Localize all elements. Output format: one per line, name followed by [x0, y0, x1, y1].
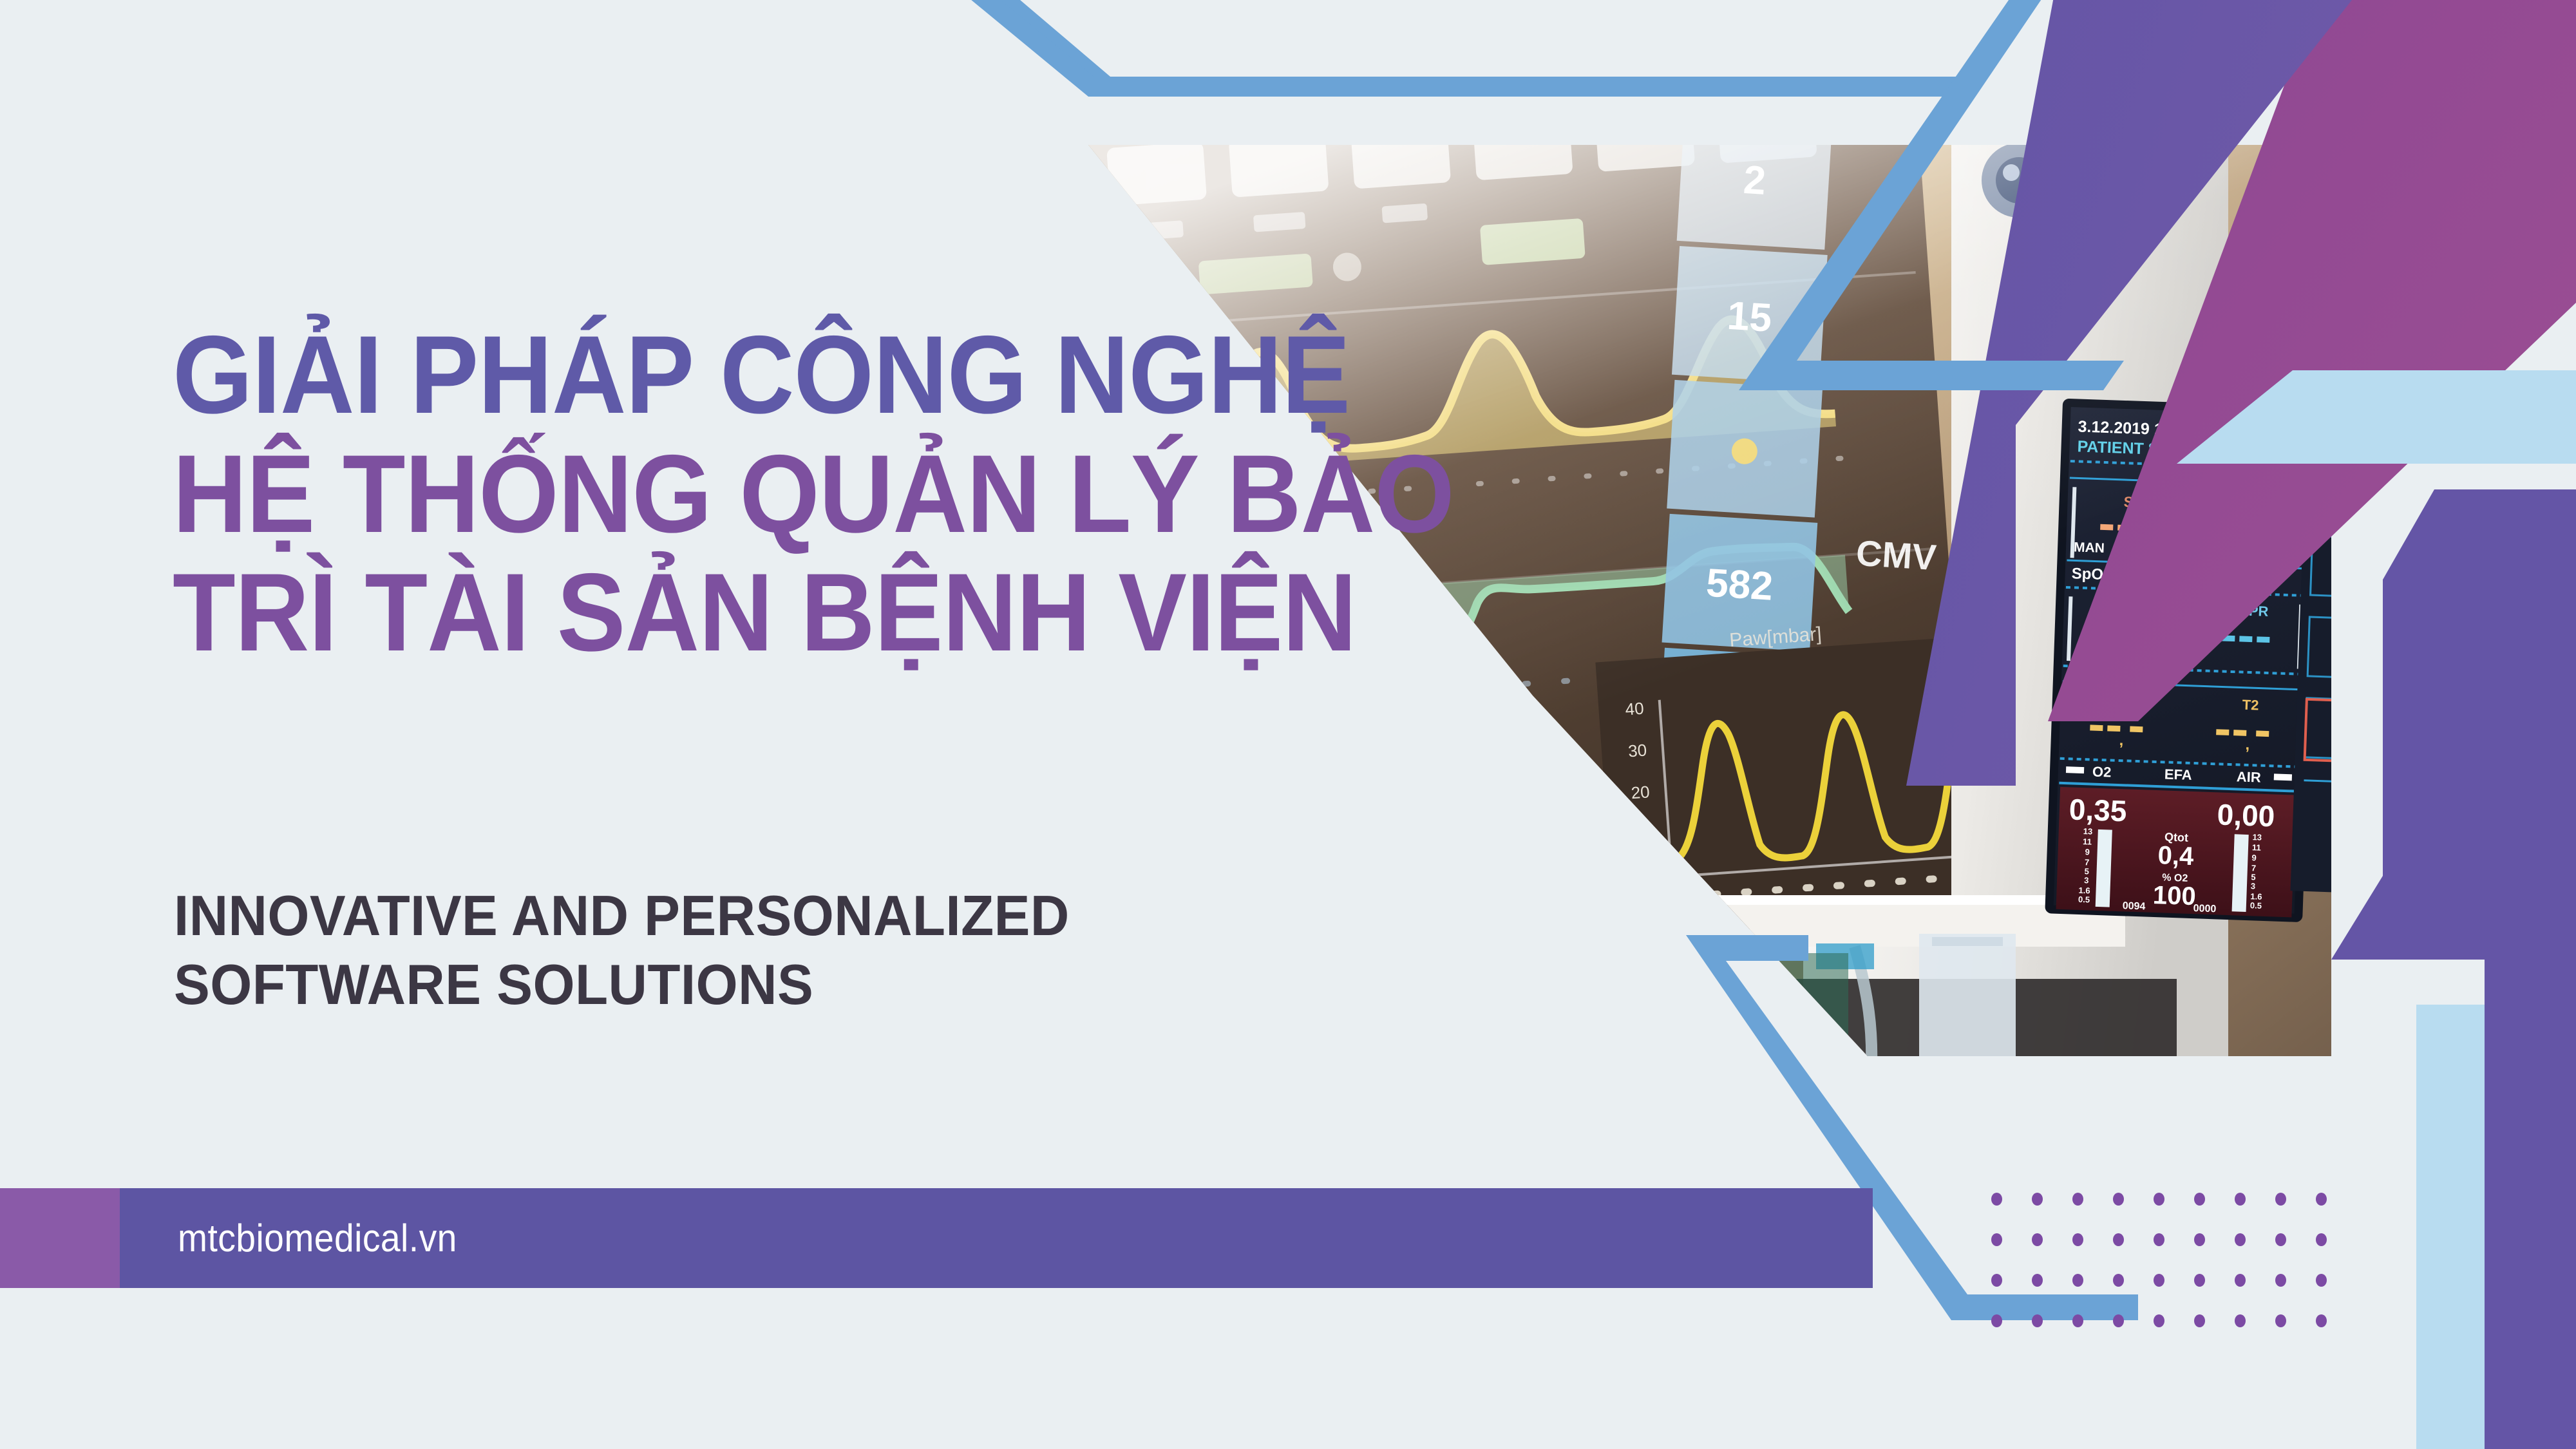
grid-dot — [2154, 1193, 2164, 1206]
svg-text:0: 0 — [1645, 862, 1656, 882]
grid-dot — [2113, 1314, 2124, 1327]
headline-block: GIẢI PHÁP CÔNG NGHỆ HỆ THỐNG QUẢN LÝ BẢO… — [173, 321, 1306, 677]
grid-dot — [2275, 1193, 2286, 1206]
svg-text:EFA: EFA — [2164, 766, 2193, 782]
grid-dot — [2032, 1193, 2043, 1206]
headline-line-3: TRÌ TÀI SẢN BỆNH VIỆN — [173, 558, 1227, 667]
grid-dot — [1991, 1274, 2002, 1287]
grid-dot — [2275, 1233, 2286, 1246]
grid-dot — [2194, 1274, 2205, 1287]
grid-dot — [2072, 1274, 2083, 1287]
svg-text:3: 3 — [2084, 875, 2089, 885]
footer-accent-block — [0, 1188, 120, 1288]
svg-text:7: 7 — [2085, 857, 2090, 867]
svg-text:20: 20 — [1631, 782, 1651, 802]
subheadline-line-2: SOFTWARE SOLUTIONS — [174, 950, 1336, 1019]
grid-dot — [2154, 1233, 2164, 1246]
svg-text:13: 13 — [2252, 832, 2262, 842]
dot-grid-decoration — [1991, 1193, 2356, 1355]
svg-text:3: 3 — [2251, 881, 2256, 891]
svg-text:13: 13 — [2083, 826, 2093, 836]
grid-dot — [1991, 1314, 2002, 1327]
grid-dot — [2235, 1233, 2246, 1246]
grid-dot — [2275, 1274, 2286, 1287]
footer-bar: mtcbiomedical.vn — [120, 1188, 1873, 1288]
svg-text:O2: O2 — [2092, 764, 2112, 781]
grid-dot — [2316, 1314, 2327, 1327]
svg-text:0,4: 0,4 — [2157, 841, 2195, 871]
svg-text:5: 5 — [2251, 872, 2256, 882]
svg-text:11: 11 — [2252, 842, 2261, 852]
svg-text:0000: 0000 — [2193, 903, 2216, 914]
svg-text:,: , — [2119, 732, 2124, 749]
grid-dot — [2316, 1233, 2327, 1246]
svg-text:AIR: AIR — [2236, 768, 2261, 785]
svg-text:0,00: 0,00 — [2217, 797, 2275, 833]
svg-text:SYS1: SYS1 — [2344, 819, 2384, 837]
grid-dot — [2072, 1233, 2083, 1246]
svg-text:10: 10 — [1633, 824, 1653, 844]
grid-dot — [2316, 1274, 2327, 1287]
svg-text:0.5: 0.5 — [2078, 895, 2090, 905]
svg-text:5: 5 — [2084, 866, 2089, 876]
grid-dot — [2113, 1233, 2124, 1246]
svg-text:9: 9 — [2085, 847, 2090, 857]
grid-dot — [1991, 1233, 2002, 1246]
headline-line-1: GIẢI PHÁP CÔNG NGHỆ — [173, 321, 1227, 430]
grid-dot — [2194, 1314, 2205, 1327]
grid-dot — [2032, 1274, 2043, 1287]
grid-dot — [2072, 1193, 2083, 1206]
grid-dot — [2316, 1193, 2327, 1206]
website-url[interactable]: mtcbiomedical.vn — [178, 1216, 457, 1260]
grid-dot — [2194, 1193, 2205, 1206]
grid-dot — [2194, 1233, 2205, 1246]
svg-text:7: 7 — [2251, 863, 2257, 873]
grid-dot — [2072, 1314, 2083, 1327]
grid-dot — [1991, 1193, 2002, 1206]
grid-dot — [2235, 1274, 2246, 1287]
svg-text:30: 30 — [1627, 740, 1647, 761]
grid-dot — [2113, 1274, 2124, 1287]
svg-text:11: 11 — [2083, 837, 2092, 846]
grid-dot — [2032, 1314, 2043, 1327]
svg-text:0.5: 0.5 — [2250, 900, 2262, 911]
svg-text:0,35: 0,35 — [2069, 792, 2127, 828]
svg-text:9: 9 — [2251, 853, 2257, 862]
grid-dot — [2275, 1314, 2286, 1327]
grid-dot — [2235, 1193, 2246, 1206]
svg-text:0094: 0094 — [2122, 900, 2145, 912]
grid-dot — [2235, 1314, 2246, 1327]
grid-dot — [2113, 1193, 2124, 1206]
svg-text:100: 100 — [2152, 881, 2196, 911]
grid-dot — [2154, 1274, 2164, 1287]
headline-line-2: HỆ THỐNG QUẢN LÝ BẢO — [173, 440, 1227, 549]
subheadline-block: INNOVATIVE AND PERSONALIZED SOFTWARE SOL… — [174, 881, 1397, 1019]
slide-canvas: 2 15 582 613 CMV 40 30 — [0, 0, 2576, 1449]
grid-dot — [2154, 1314, 2164, 1327]
grid-dot — [2032, 1233, 2043, 1246]
subheadline-line-1: INNOVATIVE AND PERSONALIZED — [174, 881, 1336, 950]
